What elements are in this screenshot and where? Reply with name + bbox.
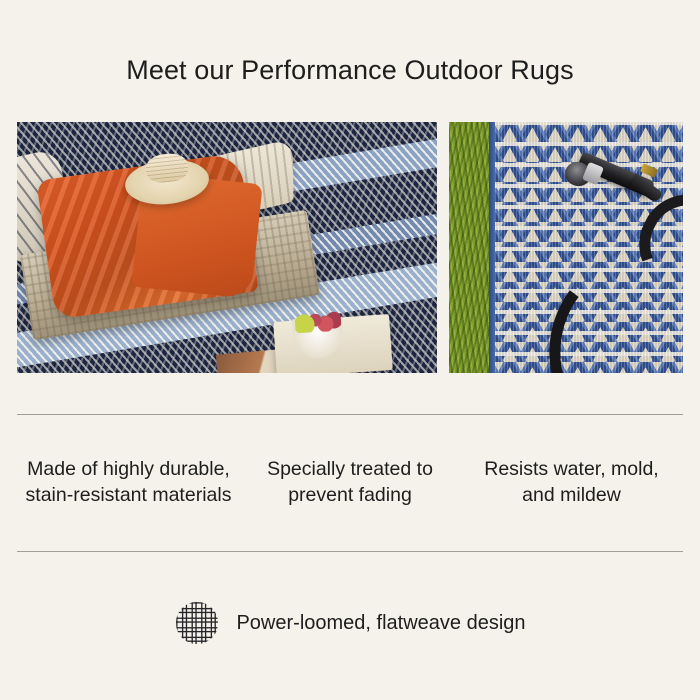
footer-row: Power-loomed, flatweave design: [0, 600, 700, 646]
chevron-outdoor-rug: [489, 122, 683, 373]
feature-item-durable: Made of highly durable, stain-resistant …: [17, 415, 240, 551]
fruit: [295, 311, 342, 333]
weave-pattern-icon: [174, 600, 220, 646]
footer-label: Power-loomed, flatweave design: [236, 611, 525, 635]
feature-item-fade-resistant: Specially treated to prevent fading: [240, 415, 460, 551]
promo-page: Meet our Performance Outdoor Rugs: [0, 0, 700, 700]
feature-item-water-resistant: Resists water, mold, and mildew: [460, 415, 683, 551]
feature-row: Made of highly durable, stain-resistant …: [17, 415, 683, 551]
poolside-rug-photo: [17, 122, 437, 373]
rug-on-grass-hose-photo: [449, 122, 683, 373]
divider-bottom: [17, 551, 683, 552]
image-gallery: [17, 122, 683, 373]
page-title: Meet our Performance Outdoor Rugs: [0, 54, 700, 86]
grass-lawn: [449, 122, 489, 373]
rug-border-edge: [489, 122, 495, 373]
